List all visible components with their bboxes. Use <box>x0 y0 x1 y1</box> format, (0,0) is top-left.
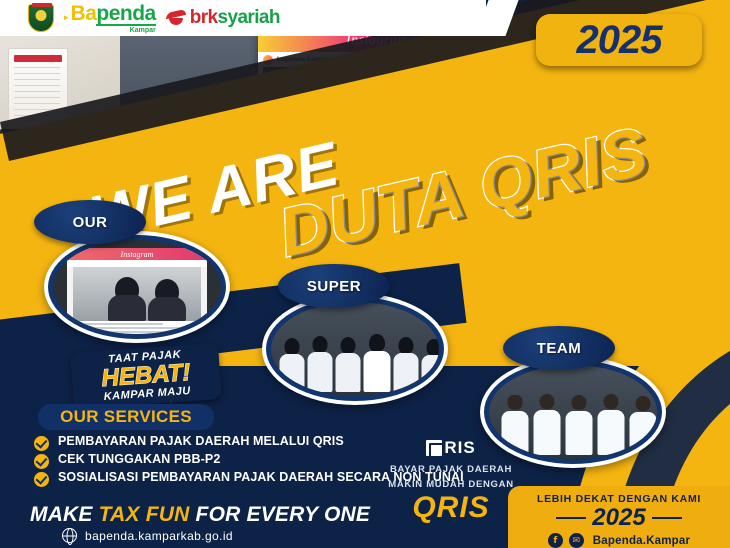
social-handle[interactable]: Bapenda.Kampar <box>593 535 690 547</box>
divider-right <box>652 517 682 520</box>
footer-social-row: f ✉ Bapenda.Kampar <box>508 533 730 548</box>
bapenda-mark-icon: ▸ <box>64 13 69 22</box>
staff-figure <box>533 394 561 455</box>
facebook-icon[interactable]: f <box>548 533 563 548</box>
year-badge: 2025 <box>536 14 702 66</box>
photo-inset-super <box>262 293 448 405</box>
staff-figure <box>597 394 625 455</box>
check-icon <box>34 472 49 487</box>
staff-figure <box>335 337 361 392</box>
qris-logo-text: RIS <box>444 438 475 458</box>
kampar-regency-crest-icon <box>28 4 54 32</box>
circle-label-our: OUR <box>34 200 146 244</box>
services-title: OUR SERVICES <box>60 407 192 427</box>
qris-square-icon <box>426 440 442 456</box>
taat-pajak-badge: TAAT PAJAK HEBAT! KAMPAR MAJU <box>70 343 222 409</box>
group-photo-women <box>271 302 439 396</box>
bapenda-penda: penda <box>96 3 155 26</box>
tagline-part-2: FOR EVERY ONE <box>190 503 371 526</box>
staff-figure <box>107 277 147 321</box>
staff-figure <box>393 337 419 392</box>
globe-icon <box>62 528 77 543</box>
footer-year: 2025 <box>592 506 645 530</box>
qris-big-word: QRIS <box>376 493 526 523</box>
mini-instagram-photo <box>73 267 201 321</box>
tagline-highlight: TAX FUN <box>99 503 190 526</box>
qris-logo: RIS <box>426 438 475 458</box>
photo-inset-our: Instagram <box>44 231 230 343</box>
brk-mark-icon <box>166 10 186 26</box>
staff-figure <box>421 339 444 392</box>
year-badge-text: 2025 <box>577 18 662 63</box>
promotional-poster: Instagram bapenda.kampar <box>0 0 730 548</box>
circle-label-team: TEAM <box>503 326 615 370</box>
service-item-label: CEK TUNGGAKAN PBB-P2 <box>58 452 220 467</box>
services-title-pill: OUR SERVICES <box>38 404 214 430</box>
mini-instagram-wordmark: Instagram <box>121 250 154 259</box>
website-row[interactable]: bapenda.kamparkab.go.id <box>62 528 233 543</box>
staff-figure <box>307 336 333 392</box>
staff-figure <box>565 395 593 455</box>
bapenda-subtitle: Kampar <box>130 27 156 34</box>
qris-line-1: BAYAR PAJAK DAERAH <box>376 464 526 476</box>
dot-pattern-decoration <box>618 236 714 310</box>
service-item-label: PEMBAYARAN PAJAK DAERAH MELALUI QRIS <box>58 434 344 449</box>
staff-figure <box>279 338 305 392</box>
circle-label-super: SUPER <box>278 264 390 308</box>
brk-text-red: brk <box>190 7 218 28</box>
qris-promo-block: RIS BAYAR PAJAK DAERAH MAKIN MUDAH DENGA… <box>376 438 526 523</box>
staff-figure <box>629 396 657 455</box>
staff-figure <box>363 334 391 392</box>
tagline-part-1: MAKE <box>30 503 99 526</box>
contact-footer-card: LEBIH DEKAT DENGAN KAMI 2025 f ✉ Bapenda… <box>508 486 730 548</box>
qris-line-2: MAKIN MUDAH DENGAN <box>376 479 526 491</box>
twitter-icon[interactable]: ✉ <box>569 533 584 548</box>
footer-year-row: 2025 <box>508 506 730 530</box>
mini-instagram-mockup: Instagram <box>67 248 207 326</box>
check-icon <box>34 436 49 451</box>
check-icon <box>34 454 49 469</box>
bapenda-logo: ▸ Ba penda Kampar <box>64 3 156 34</box>
staff-figure <box>147 279 187 321</box>
brand-header: ▸ Ba penda Kampar brksyariah <box>0 0 486 36</box>
bapenda-ba: Ba <box>71 3 97 24</box>
divider-left <box>556 517 586 520</box>
brk-text-green: syariah <box>218 7 280 28</box>
brksyariah-logo: brksyariah <box>166 7 280 29</box>
tagline: MAKE TAX FUN FOR EVERY ONE <box>30 503 370 527</box>
circle-label-our-text: OUR <box>73 214 108 231</box>
circle-label-team-text: TEAM <box>537 340 582 357</box>
circle-label-super-text: SUPER <box>307 278 361 295</box>
website-url[interactable]: bapenda.kamparkab.go.id <box>85 529 233 543</box>
